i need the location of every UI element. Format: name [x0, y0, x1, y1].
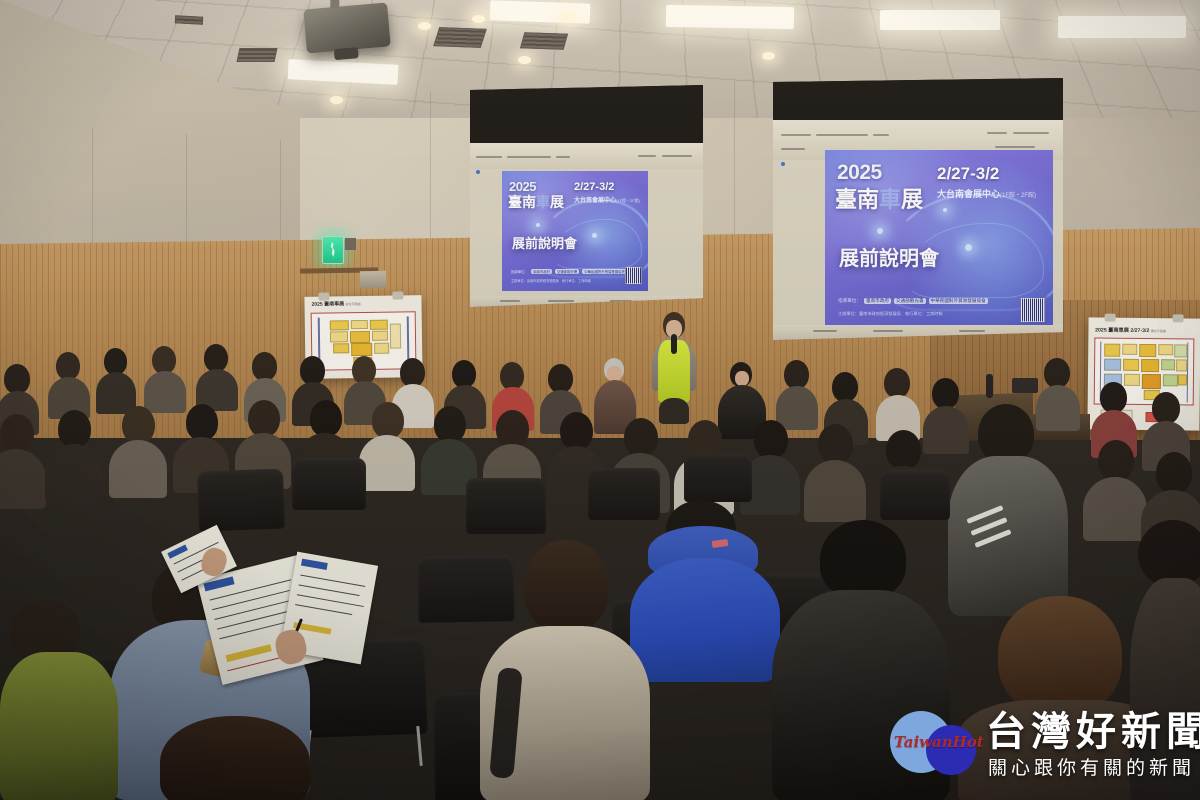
booth-block — [1122, 344, 1137, 355]
light-flare — [965, 244, 972, 251]
board-title-text: 2025 臺南車展 — [312, 301, 345, 307]
board-date: 2/27-3/2 — [1130, 328, 1149, 334]
head — [56, 352, 80, 380]
handout-text-line — [295, 604, 352, 615]
downlight-icon — [472, 15, 485, 23]
projection-surface: 2025 臺南車展 2/27-3/2 大台南會展中心(1F館・2F館) 展前說明… — [470, 143, 703, 307]
booth-block — [1105, 344, 1121, 357]
slide-title-b: 展 — [550, 194, 564, 210]
ui-text-line — [959, 330, 985, 332]
head — [624, 418, 658, 457]
credit-item: 中華民國對外貿易發展協會 — [582, 269, 627, 274]
ceiling-vent — [237, 48, 278, 62]
downlight-icon — [418, 22, 431, 30]
head — [122, 406, 155, 444]
head — [204, 344, 228, 372]
torso — [948, 456, 1068, 616]
head — [434, 406, 466, 443]
head — [372, 402, 404, 439]
ui-text-line — [500, 300, 520, 302]
credit-item: 臺南市政府 — [864, 298, 891, 304]
ui-text-line — [816, 134, 868, 136]
ui-text-line — [1013, 132, 1049, 134]
ui-text-line — [873, 134, 889, 136]
ceiling-vent — [175, 15, 203, 24]
credit-item: 交通部觀光署 — [555, 269, 579, 274]
ceiling-light-panel — [666, 5, 794, 29]
qr-code — [1021, 298, 1045, 322]
slide-venue-name: 大台南會展中心 — [574, 198, 616, 204]
credits-label: 指導單位： — [838, 298, 861, 304]
slide-subtitle: 展前說明會 — [512, 233, 577, 252]
head — [524, 540, 608, 632]
head — [4, 364, 30, 394]
head — [548, 364, 573, 393]
booth-block — [330, 331, 348, 342]
chair-back — [684, 454, 752, 502]
slide-venue: 大台南會展中心(1F館・2F館) — [937, 187, 1036, 200]
booth-block — [1174, 345, 1187, 358]
handout-text-line — [212, 590, 290, 611]
light-flare — [943, 208, 947, 212]
torso — [804, 460, 866, 522]
booth-block — [1139, 344, 1156, 357]
audience-member-gray-jacket — [948, 404, 1068, 614]
head — [818, 424, 853, 464]
watermark-brand: 台灣好新聞 — [986, 710, 1200, 754]
slide-venue: 大台南會展中心(1F館・2F館) — [574, 195, 640, 204]
torso — [359, 435, 415, 491]
left-projection-screen: 2025 臺南車展 2/27-3/2 大台南會展中心(1F館・2F館) 展前說明… — [470, 85, 703, 307]
board-clip — [1173, 314, 1184, 322]
ui-text-line — [987, 132, 1007, 134]
ui-text-line — [638, 155, 656, 157]
credit-item: 中華民國對外貿易發展協會 — [929, 298, 988, 304]
torso — [45, 444, 103, 502]
torso — [0, 449, 46, 509]
torso — [776, 386, 818, 430]
slide-credits: 指導單位： 臺南市政府 交通部觀光署 中華民國對外貿易發展協會 — [511, 269, 635, 274]
audience-member-foreground-left — [160, 716, 310, 800]
slide-date: 2/27-3/2 — [574, 181, 614, 193]
booth-block — [351, 343, 372, 356]
chair-back — [292, 458, 366, 510]
audience-member-olive-jacket — [0, 600, 118, 800]
light-flare — [592, 233, 597, 238]
plan-aisle — [1187, 342, 1189, 402]
board-title-text: 2025 臺南車展 — [1095, 327, 1129, 333]
exit-sign-icon — [322, 236, 344, 264]
ui-text-line — [476, 156, 502, 158]
head — [886, 430, 921, 470]
head — [832, 372, 858, 402]
slide-credit-line2: 主辦單位：臺南市政府經濟發展局 執行單位：工商時報 — [511, 278, 591, 283]
board-note: 展位平面圖 — [345, 302, 360, 306]
booth-block — [1124, 374, 1140, 387]
torso — [144, 371, 186, 413]
slide-subtitle: 展前說明會 — [839, 242, 939, 271]
slide-title-mark: 車 — [536, 194, 550, 210]
head — [496, 410, 529, 448]
screen-housing — [470, 85, 703, 143]
head — [1044, 358, 1070, 388]
photo-scene: 2025 臺南車展 2/27-3/2 大台南會展中心(1F館・2F館) 展前說明… — [0, 0, 1200, 800]
slide-venue-note: (1F館・2F館) — [1000, 193, 1036, 199]
board-clip — [1105, 314, 1116, 322]
slide-title-a: 臺南 — [508, 194, 536, 210]
slide-venue-name: 大台南會展中心 — [937, 189, 1000, 199]
slide-title: 臺南車展 — [835, 182, 923, 214]
slide-title-mark: 車 — [879, 187, 901, 212]
wall-speaker-icon — [360, 271, 386, 288]
slide-title-a: 臺南 — [835, 187, 879, 212]
slide-title-b: 展 — [901, 187, 923, 212]
head — [998, 596, 1122, 716]
head — [152, 346, 176, 374]
board-clip — [318, 292, 329, 300]
head — [1156, 452, 1192, 494]
booth-block — [350, 330, 370, 342]
torso — [109, 440, 167, 498]
head — [400, 358, 425, 387]
presenter-figure — [646, 312, 700, 422]
head — [560, 412, 593, 450]
audience-member-cream-coat — [480, 540, 650, 800]
head — [754, 420, 788, 459]
av-equipment — [1012, 378, 1038, 393]
head — [978, 404, 1034, 464]
board-title: 2025 臺南車展 展位平面圖 — [312, 300, 361, 308]
downlight-icon — [562, 14, 575, 22]
board-note: 展位平面圖 — [1151, 329, 1166, 333]
wall-control-box — [345, 238, 356, 250]
booth-block — [1161, 359, 1175, 370]
booth-block — [1176, 359, 1188, 371]
head — [884, 368, 910, 398]
credit-item: 交通部觀光署 — [894, 298, 926, 304]
booth-block — [1177, 374, 1187, 385]
credit-item: 臺南市政府 — [531, 269, 552, 274]
microphone-stand-icon — [986, 374, 993, 398]
slide-venue-note: (1F館・2F館) — [616, 198, 640, 203]
ui-text-line — [556, 156, 570, 158]
head — [500, 362, 524, 390]
chair-back — [466, 478, 546, 534]
ui-text-line — [873, 330, 903, 332]
wall-seam — [430, 92, 431, 260]
handout-text-line — [217, 611, 289, 630]
head — [300, 356, 325, 385]
downlight-icon — [518, 56, 531, 64]
audience-member-blue-hoodie — [630, 500, 780, 680]
downlight-icon — [762, 52, 775, 60]
handout-header-band — [167, 545, 188, 559]
handout-text-line — [298, 584, 359, 596]
head — [186, 404, 218, 441]
head — [1152, 392, 1180, 424]
ui-text-line — [781, 134, 811, 136]
head — [1098, 440, 1134, 481]
booth-block — [369, 320, 388, 330]
watermark-logo: TaiwanHot 台灣好新聞 關心跟你有關的新聞 — [880, 700, 1192, 792]
booth-block — [1105, 358, 1122, 371]
downlight-icon — [330, 96, 343, 104]
screen-housing — [773, 78, 1063, 120]
ceiling-vent — [520, 32, 568, 50]
ui-text-line — [995, 146, 1035, 148]
plan-aisle — [407, 316, 409, 364]
ui-text-line — [813, 330, 837, 332]
booth-block — [390, 324, 401, 348]
chair-back — [880, 470, 950, 520]
presentation-slide: 2025 臺南車展 2/27-3/2 大台南會展中心(1F館・2F館) 展前說明… — [502, 171, 648, 291]
ceiling-light-panel — [1058, 16, 1186, 38]
booth-block — [372, 331, 389, 342]
projection-surface: 2025 臺南車展 2/27-3/2 大台南會展中心(1F館・2F館) 展前說明… — [773, 120, 1063, 340]
ceiling-vent — [433, 27, 487, 48]
head — [248, 400, 280, 437]
booth-block — [333, 344, 350, 354]
booth-block — [1123, 359, 1139, 371]
ui-text-line — [662, 155, 692, 157]
credits-label: 指導單位： — [511, 269, 528, 274]
slideshow-chrome — [470, 143, 703, 169]
chair-back — [197, 469, 285, 532]
presenter-lower — [659, 398, 689, 424]
booth-block — [1158, 345, 1173, 356]
head — [352, 356, 376, 384]
ui-text-line — [548, 300, 574, 302]
head — [820, 520, 906, 598]
handout-header-band — [301, 559, 328, 570]
head — [0, 414, 34, 453]
slide-credit-line2: 主辦單位：臺南市政府經濟發展局 執行單位：工商時報 — [838, 311, 943, 317]
slide-date: 2/27-3/2 — [937, 164, 999, 184]
head — [310, 400, 342, 437]
torso — [630, 558, 780, 682]
ceiling-light-panel — [880, 10, 1000, 30]
head — [452, 360, 476, 388]
ui-text-line — [781, 148, 805, 150]
slide-title: 臺南車展 — [508, 192, 564, 212]
handout-highlight — [226, 644, 272, 662]
slide-credits: 指導單位： 臺南市政府 交通部觀光署 中華民國對外貿易發展協會 — [838, 298, 1028, 304]
head — [58, 410, 91, 448]
head — [160, 716, 310, 800]
light-flare — [536, 223, 540, 227]
qr-code — [625, 267, 642, 284]
board-title: 2025 臺南車展 2/27-3/2 展位平面圖 — [1095, 326, 1166, 334]
microphone-icon — [671, 334, 677, 354]
head — [784, 360, 809, 389]
booth-block — [1142, 374, 1161, 389]
attendee-face — [735, 371, 749, 386]
booth-block — [351, 320, 368, 329]
head — [104, 348, 127, 375]
ui-text-line — [507, 156, 551, 158]
ceiling-projector — [303, 2, 391, 53]
right-projection-screen: 2025 臺南車展 2/27-3/2 大台南會展中心(1F館・2F館) 展前說明… — [773, 78, 1063, 340]
ceiling-light-panel — [490, 0, 591, 23]
presentation-slide: 2025 臺南車展 2/27-3/2 大台南會展中心(1F館・2F館) 展前說明… — [825, 150, 1053, 332]
booth-block — [1163, 374, 1178, 387]
watermark-tagline: 關心跟你有關的新聞 — [988, 758, 1195, 780]
logo-script-text: TaiwanHot — [894, 733, 980, 751]
booth-block — [1141, 359, 1159, 372]
torso — [0, 652, 118, 800]
head — [1100, 382, 1127, 413]
ui-indicator — [781, 162, 785, 166]
booth-block — [374, 343, 390, 354]
ui-indicator — [476, 170, 480, 174]
board-clip — [392, 291, 403, 299]
light-flare — [877, 228, 883, 234]
head — [252, 352, 277, 381]
booth-block — [330, 320, 349, 331]
